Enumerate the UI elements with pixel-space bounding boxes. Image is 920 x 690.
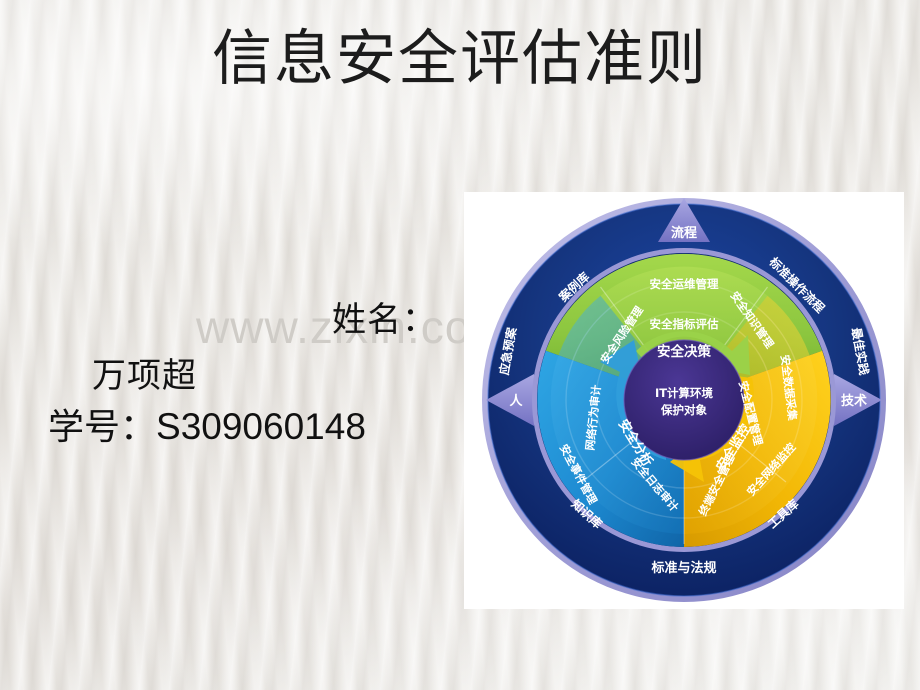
student-id-value: S309060148 — [156, 406, 366, 447]
apex-label-technology: 技术 — [841, 393, 867, 409]
name-label: 姓名： — [332, 292, 437, 341]
outer-label-standards-laws: 标准与法规 — [650, 560, 716, 576]
apex-label-people: 人 — [509, 393, 523, 409]
green-item-ops-management: 安全运维管理 — [650, 277, 719, 291]
figure-image-frame: IT计算环境 保护对象 流程 人 技术 案例库 标准操作流程 应急预案 最佳实践… — [464, 192, 904, 609]
page-title: 信息安全评估准则 — [0, 28, 920, 91]
student-id-line: 学号：S309060148 — [48, 398, 366, 450]
apex-label-process: 流程 — [671, 225, 697, 241]
green-item-index-evaluation: 安全指标评估 — [650, 317, 719, 331]
student-id-label: 学号： — [48, 407, 156, 448]
core-line1: IT计算环境 — [655, 386, 714, 400]
person-name: 万项超 — [92, 348, 197, 397]
green-inner-label-security-decision: 安全决策 — [657, 343, 711, 360]
security-framework-diagram: IT计算环境 保护对象 流程 人 技术 案例库 标准操作流程 应急预案 最佳实践… — [464, 192, 904, 609]
core-line2: 保护对象 — [660, 403, 707, 417]
